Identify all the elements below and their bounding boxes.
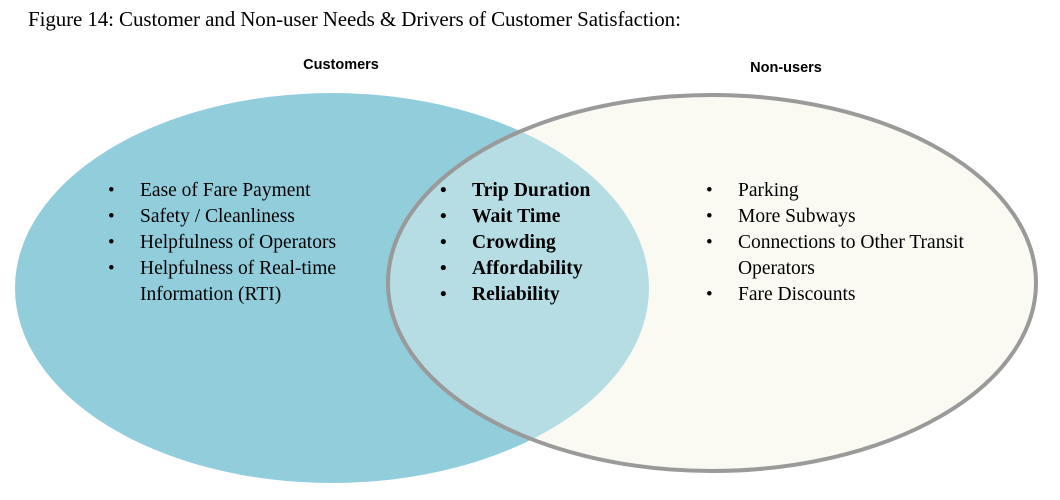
- left-circle-list: •Ease of Fare Payment•Safety / Cleanline…: [96, 178, 396, 308]
- list-item: •Reliability: [428, 282, 638, 308]
- list-item: •Fare Discounts: [694, 282, 994, 308]
- bullet-icon: •: [706, 178, 713, 204]
- bullet-icon: •: [440, 256, 447, 282]
- list-item: •Parking: [694, 178, 994, 204]
- bullet-icon: •: [108, 204, 115, 230]
- list-item-label: Wait Time: [472, 206, 560, 227]
- bullet-icon: •: [440, 204, 447, 230]
- bullet-icon: •: [440, 230, 447, 256]
- bullet-icon: •: [706, 230, 713, 256]
- list-item-label: Helpfulness of Real-time Information (RT…: [140, 258, 336, 305]
- venn-diagram: Customers Non-users •Ease of Fare Paymen…: [0, 0, 1060, 500]
- right-circle-label: Non-users: [676, 60, 896, 76]
- bullet-icon: •: [706, 204, 713, 230]
- overlap-list: •Trip Duration•Wait Time•Crowding•Afford…: [428, 178, 638, 308]
- list-item: •Crowding: [428, 230, 638, 256]
- list-item: •Ease of Fare Payment: [96, 178, 396, 204]
- list-item: •Helpfulness of Operators: [96, 230, 396, 256]
- list-item-label: Fare Discounts: [738, 284, 856, 305]
- list-item-label: Reliability: [472, 284, 560, 305]
- list-item: •More Subways: [694, 204, 994, 230]
- bullet-icon: •: [108, 256, 115, 282]
- list-item-label: Trip Duration: [472, 180, 591, 201]
- list-item: •Trip Duration: [428, 178, 638, 204]
- list-item-label: Affordability: [472, 258, 583, 279]
- left-circle-label: Customers: [231, 57, 451, 73]
- list-item: •Helpfulness of Real-time Information (R…: [96, 256, 396, 308]
- bullet-icon: •: [108, 230, 115, 256]
- list-item: •Affordability: [428, 256, 638, 282]
- bullet-icon: •: [440, 282, 447, 308]
- bullet-icon: •: [706, 282, 713, 308]
- list-item-label: More Subways: [738, 206, 856, 227]
- bullet-icon: •: [440, 178, 447, 204]
- right-circle-list: •Parking•More Subways•Connections to Oth…: [694, 178, 994, 308]
- list-item-label: Crowding: [472, 232, 556, 253]
- list-item-label: Helpfulness of Operators: [140, 232, 336, 253]
- list-item: •Connections to Other Transit Operators: [694, 230, 994, 282]
- list-item-label: Safety / Cleanliness: [140, 206, 295, 227]
- list-item: •Wait Time: [428, 204, 638, 230]
- list-item-label: Connections to Other Transit Operators: [738, 232, 964, 279]
- list-item: •Safety / Cleanliness: [96, 204, 396, 230]
- bullet-icon: •: [108, 178, 115, 204]
- list-item-label: Ease of Fare Payment: [140, 180, 311, 201]
- list-item-label: Parking: [738, 180, 799, 201]
